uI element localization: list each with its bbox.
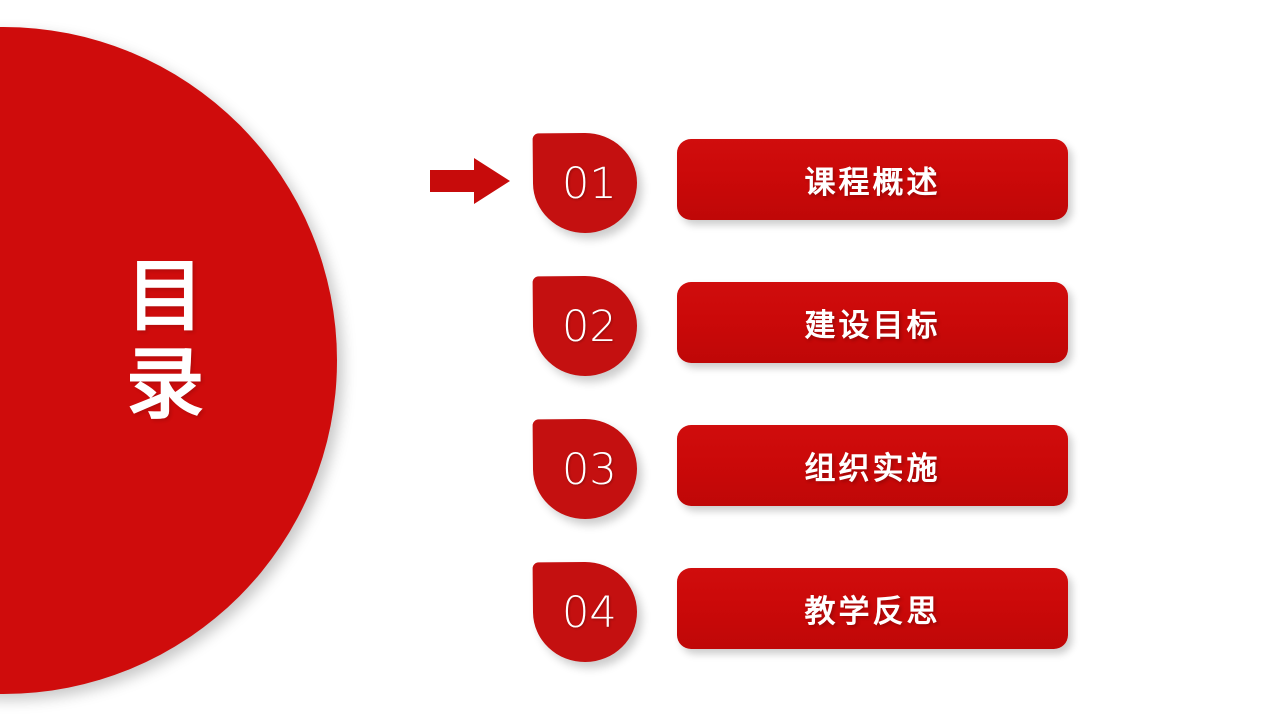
slide-canvas: 目 录 01 课程概述 02 建设目标 <box>0 0 1280 720</box>
toc-row[interactable]: 03 组织实施 <box>425 414 1085 518</box>
toc-label-bar[interactable]: 建设目标 <box>677 282 1068 363</box>
toc-item-label: 组织实施 <box>805 443 941 488</box>
toc-label-bar[interactable]: 组织实施 <box>677 425 1068 506</box>
toc-row[interactable]: 02 建设目标 <box>425 271 1085 375</box>
right-arrow-icon <box>430 158 510 204</box>
toc-number-label: 01 <box>562 163 617 206</box>
toc-number-label: 03 <box>562 449 617 492</box>
toc-number-badge[interactable]: 04 <box>533 562 638 663</box>
toc-item-label: 教学反思 <box>805 586 941 631</box>
toc-number-badge[interactable]: 01 <box>533 133 638 234</box>
toc-label-bar[interactable]: 课程概述 <box>677 139 1068 220</box>
toc-number-badge[interactable]: 02 <box>533 276 638 377</box>
toc-item-label: 课程概述 <box>805 157 941 202</box>
toc-label-bar[interactable]: 教学反思 <box>677 568 1068 649</box>
toc-row[interactable]: 01 课程概述 <box>425 128 1085 232</box>
toc-number-label: 04 <box>562 592 617 635</box>
table-of-contents: 01 课程概述 02 建设目标 03 组织实施 <box>0 0 1280 720</box>
toc-row[interactable]: 04 教学反思 <box>425 557 1085 661</box>
toc-number-badge[interactable]: 03 <box>533 419 638 520</box>
toc-number-label: 02 <box>562 306 617 349</box>
toc-item-label: 建设目标 <box>805 300 941 345</box>
